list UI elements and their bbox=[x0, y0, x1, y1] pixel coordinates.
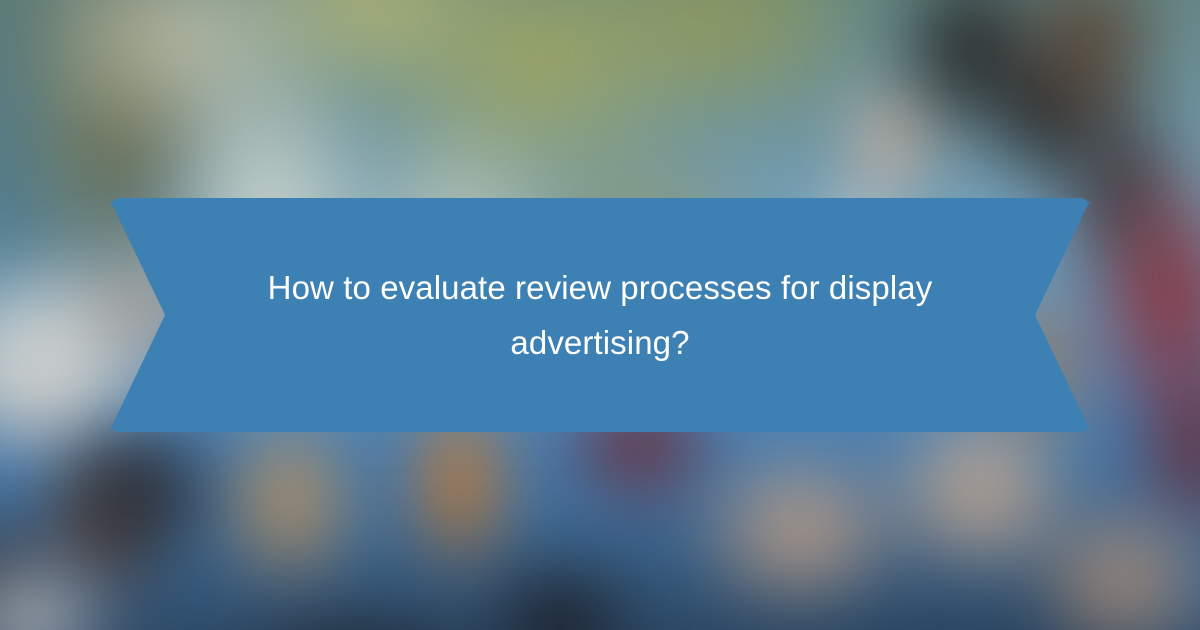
headline-text: How to evaluate review processes for dis… bbox=[220, 260, 980, 371]
banner-canvas: How to evaluate review processes for dis… bbox=[0, 0, 1200, 630]
headline-ribbon: How to evaluate review processes for dis… bbox=[110, 198, 1090, 432]
